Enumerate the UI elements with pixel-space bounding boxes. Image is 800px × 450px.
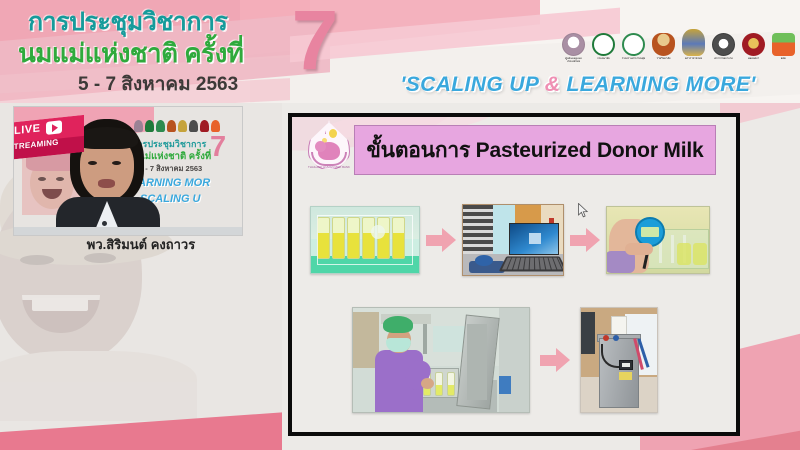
royal-emblem-logo-icon [682, 29, 705, 56]
p5-red-knob [603, 335, 609, 341]
photo-hand-digital-thermometer [606, 206, 710, 274]
process-flow-row-2 [352, 305, 732, 415]
logo-nursing-council: สภาการพยาบาล [711, 27, 736, 63]
tagline-text-2: LEARNING MORE' [560, 73, 755, 96]
p1-bottle-rack [315, 213, 415, 265]
p4-right-wall [499, 308, 529, 412]
p5-posted-sign [611, 316, 627, 336]
human-milk-bank-logo: THAILAND HUMAN MILK BANK [304, 120, 354, 178]
thai-breastfeeding-centre-logo-icon [562, 33, 585, 56]
p1-light-glow [371, 225, 385, 239]
speaker-eye-right [112, 161, 121, 165]
logo-caption: สสส. [771, 57, 797, 63]
organizer-logo-strip: ศูนย์นมแม่แห่งประเทศไทย กรมอนามัย กระทรว… [560, 25, 796, 65]
slide-frame: THAILAND HUMAN MILK BANK ขั้นตอนการ Past… [288, 113, 740, 436]
speaker-button-1 [102, 221, 107, 226]
screen: การประชุมวิชาการ นมแม่แห่งชาติ ครั้งที่ … [0, 0, 800, 450]
p3-rack-wire [671, 235, 674, 263]
p3-fingers [625, 243, 653, 255]
logo-caption: ราชวิทยาลัย [651, 57, 677, 63]
mouse-cursor [578, 203, 589, 218]
conference-title-line-1: การประชุมวิชาการ [28, 6, 298, 38]
logo-caption: สภากาชาดไทย [681, 57, 707, 63]
p3-milk-bottle [693, 243, 707, 265]
p3-milk-bottle [677, 243, 691, 265]
p2-shelf-background [463, 205, 493, 255]
flow-arrow-3 [540, 348, 570, 372]
watermark-shirt [0, 351, 197, 421]
p2-laptop-keyboard [499, 256, 564, 271]
p4-milk-bottle [435, 372, 443, 396]
slide-title: ขั้นตอนการ Pasteurized Donor Milk [354, 125, 716, 175]
logo-caption: กระทรวงสาธารณสุข [621, 57, 647, 63]
photo-pasteurizer-machine [580, 307, 658, 413]
tagline-text-1: 'SCALING UP [400, 73, 544, 96]
p2-mouse [475, 255, 493, 266]
logo-caption: กรมอนามัย [591, 57, 617, 63]
thumb-logo-4-icon [167, 120, 176, 132]
logo-medical-council: แพทยสภา [741, 27, 766, 63]
inset-eye-left [38, 177, 46, 181]
live-stream-panel[interactable]: การประชุมวิชาการ นมแม่แห่งชาติ ครั้งที่ … [0, 103, 282, 450]
watermark-teeth [32, 298, 88, 311]
conference-title-line-2: นมแม่แห่งชาติ ครั้งที่ [18, 36, 308, 70]
process-flow-row-1 [310, 201, 730, 279]
flow-arrow-1 [426, 228, 456, 252]
logo-caption: ศูนย์นมแม่แห่งประเทศไทย [561, 57, 587, 63]
arrow-head [556, 348, 570, 372]
arrow-head [586, 228, 600, 252]
thumb-logo-6-icon [189, 120, 198, 132]
p4-nurse-figure [373, 316, 427, 413]
p3-thermometer-display [641, 227, 659, 237]
logo-thai-breastfeeding-centre: ศูนย์นมแม่แห่งประเทศไทย [561, 27, 586, 63]
logo-caption: สภาการพยาบาล [711, 57, 737, 63]
logo-royal-emblem: สภากาชาดไทย [681, 27, 706, 63]
flow-arrow-2 [570, 228, 600, 252]
p4-blue-bin [499, 376, 511, 394]
video-thumbnail[interactable]: การประชุมวิชาการ นมแม่แห่งชาติ ครั้งที่ … [13, 106, 243, 236]
royal-thai-government-logo-icon [652, 33, 675, 56]
logo-caption: แพทยสภา [741, 57, 767, 63]
p4-pasteurizer-lid-inner [467, 324, 487, 400]
presentation-slide-area: THAILAND HUMAN MILK BANK ขั้นตอนการ Past… [282, 103, 800, 450]
p4-nurse-hand [421, 378, 434, 389]
p1-rack-frame [317, 215, 413, 265]
p5-control-display [619, 360, 633, 370]
p5-dark-panel [581, 312, 595, 354]
drop-highlight-large [329, 129, 337, 138]
logo-thaihealth: สสส. [771, 27, 796, 63]
speaker-bangs [76, 127, 138, 149]
conference-tagline: 'SCALING UP & LEARNING MORE' [360, 70, 796, 100]
photo-laptop-record-desk [462, 204, 564, 276]
conference-edition-number: 7 [285, 0, 345, 86]
arrow-head [442, 228, 456, 252]
thumbnail-edition-number: 7 [210, 133, 226, 162]
logo-department-health: กรมอนามัย [591, 27, 616, 63]
logo-caption-text: THAILAND HUMAN MILK BANK [302, 166, 356, 175]
conference-banner: การประชุมวิชาการ นมแม่แห่งชาติ ครั้งที่ … [0, 0, 800, 103]
speaker-mouth [98, 179, 115, 188]
play-icon [46, 120, 62, 135]
medical-council-logo-icon [742, 33, 765, 56]
photo-nurse-loading-pasteurizer [352, 307, 530, 413]
tagline-ampersand: & [545, 73, 561, 96]
nursing-council-logo-icon [712, 33, 735, 56]
speaker-name-caption: พว.สิริมนต์ คงถาวร [16, 234, 266, 256]
speaker-eye-left [88, 161, 97, 165]
logo-royal-college: ราชวิทยาลัย [651, 27, 676, 63]
conference-date: 5 - 7 สิงหาคม 2563 [78, 72, 288, 98]
p4-nurse-surgical-cap [383, 316, 413, 333]
department-health-logo-icon [592, 33, 615, 56]
thumb-logo-7-icon [200, 120, 209, 132]
thaihealth-sss-logo-icon [772, 33, 795, 56]
watermark-eye-left [20, 255, 54, 265]
baby-head-icon [315, 141, 326, 152]
photo-milk-bottles-rack [310, 206, 420, 274]
logo-ministry-public-health: กระทรวงสาธารณสุข [621, 27, 646, 63]
thumb-logo-5-icon [178, 120, 187, 132]
p2-screen-icon [529, 233, 541, 244]
p5-yellow-label [619, 372, 632, 380]
p4-milk-bottle [447, 372, 455, 396]
p5-blue-knob [613, 335, 619, 341]
ministry-public-health-logo-icon [622, 33, 645, 56]
